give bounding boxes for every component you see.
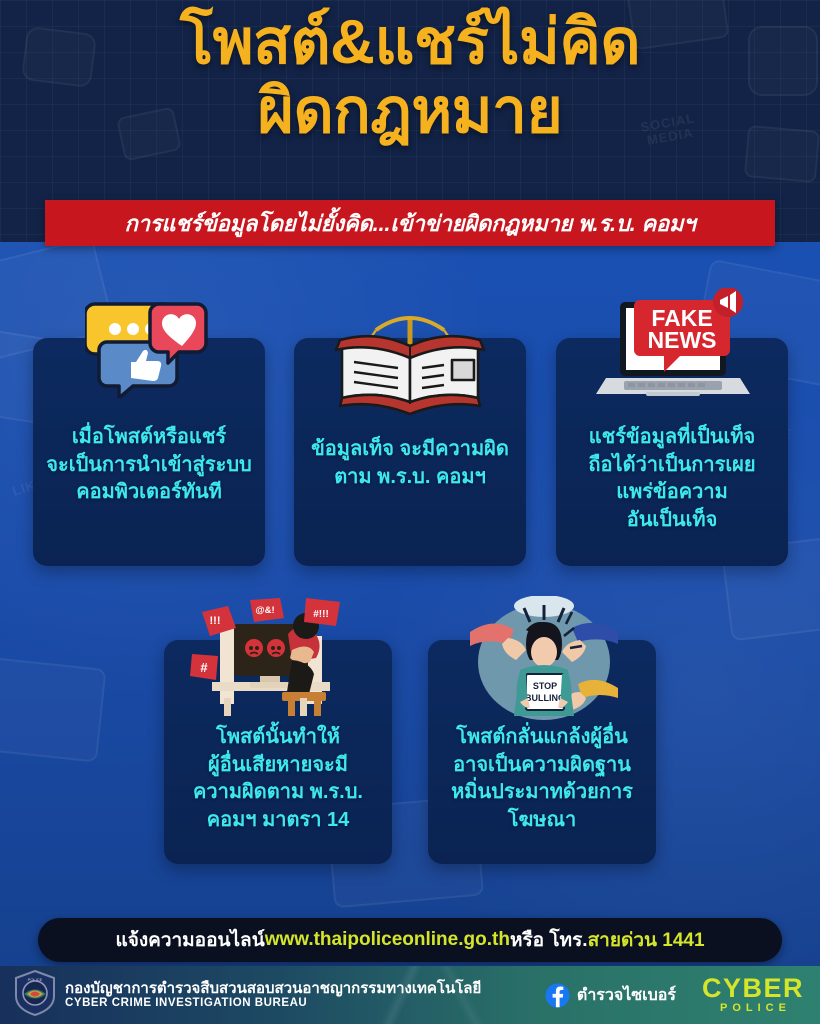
svg-text:BULLING: BULLING [525, 693, 565, 703]
svg-text:#!!!: #!!! [313, 609, 329, 620]
contact-prefix: แจ้งความออนไลน์ [115, 925, 264, 955]
cyber-police-logo-sub: POLICE [702, 1002, 809, 1014]
title-line-1: โพสต์&แชร์ไม่คิด [0, 8, 820, 77]
facebook-icon [545, 983, 570, 1008]
footer-org-th: กองบัญชาการตำรวจสืบสวนสอบสวนอาชญากรรมทาง… [65, 981, 481, 998]
contact-bar[interactable]: แจ้งความออนไลน์ www.thaipoliceonline.go.… [38, 918, 782, 962]
subtitle-banner: การแชร์ข้อมูลโดยไม่ยั้งคิด...เข้าข่ายผิด… [45, 200, 775, 246]
cyberbullying-victim-icon: !!! @&! #!!! # [188, 598, 368, 722]
svg-text:STOP: STOP [533, 681, 557, 691]
law-book-scales-icon [332, 300, 488, 418]
subtitle-banner-text: การแชร์ข้อมูลโดยไม่ยั้งคิด...เข้าข่ายผิด… [125, 206, 696, 241]
svg-text:@&!: @&! [255, 605, 274, 616]
footer-facebook-label: ตำรวจไซเบอร์ [577, 983, 676, 1008]
contact-url[interactable]: www.thaipoliceonline.go.th [265, 929, 510, 951]
card-post-share-text: เมื่อโพสต์หรือแชร์ จะเป็นการนำเข้าสู่ระบ… [41, 424, 257, 507]
contact-middle: หรือ โทร. [510, 925, 588, 955]
footer-bar: POLICE กองบัญชาการตำรวจสืบสวนสอบสวนอาชญา… [0, 966, 820, 1024]
bg-card-left-c [0, 655, 107, 762]
card-fake-news-text: แชร์ข้อมูลที่เป็นเท็จ ถือได้ว่าเป็นการเผ… [564, 424, 780, 534]
poster-title: โพสต์&แชร์ไม่คิด ผิดกฎหมาย [0, 8, 820, 147]
svg-text:!!!: !!! [210, 615, 221, 627]
cyber-police-logo-main: CYBER [702, 976, 804, 1002]
title-line-2: ผิดกฎหมาย [0, 77, 820, 146]
svg-text:#: # [200, 660, 208, 675]
footer-facebook[interactable]: ตำรวจไซเบอร์ [545, 983, 676, 1008]
footer-org-names: กองบัญชาการตำรวจสืบสวนสอบสวนอาชญากรรมทาง… [65, 981, 481, 1010]
card-false-info-text: ข้อมูลเท็จ จะมีความผิด ตาม พ.ร.บ. คอมฯ [302, 436, 518, 491]
cyber-police-logo: CYBER POLICE [702, 976, 804, 1014]
contact-hotline[interactable]: สายด่วน 1441 [588, 925, 705, 955]
stop-bullying-icon: STOP BULLING [468, 596, 620, 724]
infographic-poster: SOCIAL MEDIA LIKE SHARE โพสต์&แชร์ไม่คิด… [0, 0, 820, 1024]
card-defamation-text: โพสต์กลั่นแกล้งผู้อื่น อาจเป็นความผิดฐาน… [436, 724, 648, 834]
footer-org-en: CYBER CRIME INVESTIGATION BUREAU [65, 997, 481, 1009]
svg-text:NEWS: NEWS [648, 327, 717, 353]
card-damage-section14-text: โพสต์นั้นทำให้ ผู้อื่นเสียหายจะมี ความผิ… [172, 724, 384, 834]
police-badge-icon: POLICE [14, 970, 56, 1021]
social-reactions-icon [85, 296, 213, 398]
svg-text:POLICE: POLICE [28, 977, 43, 982]
fake-news-laptop-icon: FAKE NEWS [594, 288, 752, 414]
